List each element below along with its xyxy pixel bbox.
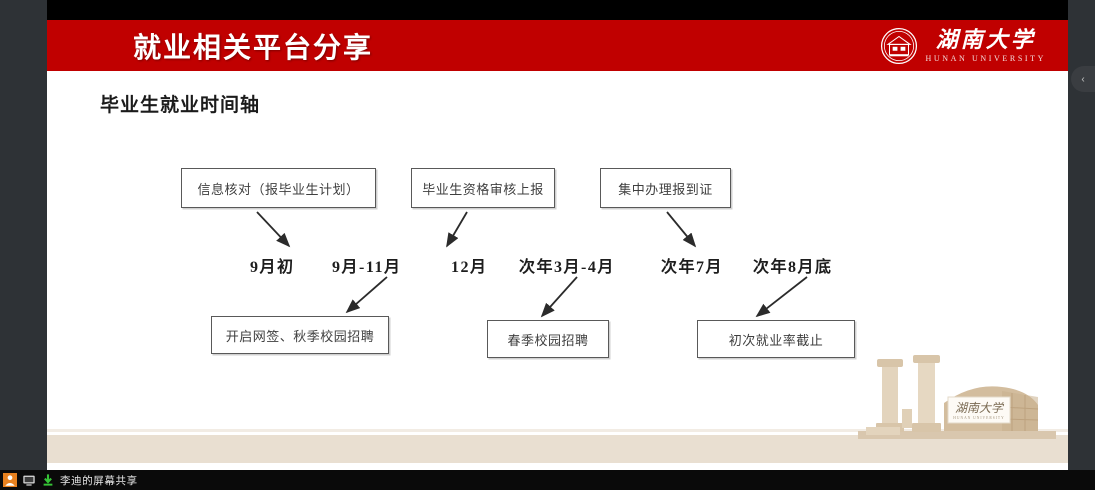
timeline-period-label-0: 9月初 (250, 253, 295, 277)
timeline-stage-box-top-2: 集中办理报到证 (600, 168, 731, 208)
timeline-stage-box-bottom-0: 开启网签、秋季校园招聘 (211, 316, 389, 354)
screen-share-icon[interactable] (22, 473, 36, 487)
screen-share-viewer: 就业相关平台分享 湖南大学 HUNAN UNIVERSITY 毕业生就业时间轴 (0, 0, 1095, 490)
timeline-stage-box-top-1: 毕业生资格审核上报 (411, 168, 555, 208)
timeline-period-label-4: 次年7月 (661, 253, 723, 277)
timeline-period-label-1: 9月-11月 (332, 253, 401, 277)
timeline-stage-box-bottom-1: 春季校园招聘 (487, 320, 609, 358)
chevron-left-icon: ‹ (1081, 74, 1084, 85)
timeline-stage-box-bottom-2: 初次就业率截止 (697, 320, 855, 358)
landmark-sign-cn: 湖南大学 (955, 401, 1005, 415)
screen-share-status-label: 李迪的屏幕共享 (60, 473, 138, 488)
taskbar: 李迪的屏幕共享 (0, 470, 1095, 490)
timeline-period-label-5: 次年8月底 (753, 253, 833, 277)
landmark-sign-en: HUNAN UNIVERSITY (953, 416, 1004, 420)
timeline-period-label-2: 12月 (451, 253, 488, 277)
participant-icon[interactable] (3, 473, 17, 487)
download-icon[interactable] (41, 473, 55, 487)
timeline-period-label-3: 次年3月-4月 (519, 253, 615, 277)
hunan-university-campus-landmark-illustration: 湖南大学 HUNAN UNIVERSITY (852, 347, 1062, 442)
viewer-left-chrome (0, 0, 47, 470)
presentation-slide: 就业相关平台分享 湖南大学 HUNAN UNIVERSITY 毕业生就业时间轴 (47, 0, 1068, 470)
timeline-stage-box-top-0: 信息核对（报毕业生计划） (181, 168, 376, 208)
collapse-panel-button[interactable]: ‹ (1071, 66, 1095, 92)
